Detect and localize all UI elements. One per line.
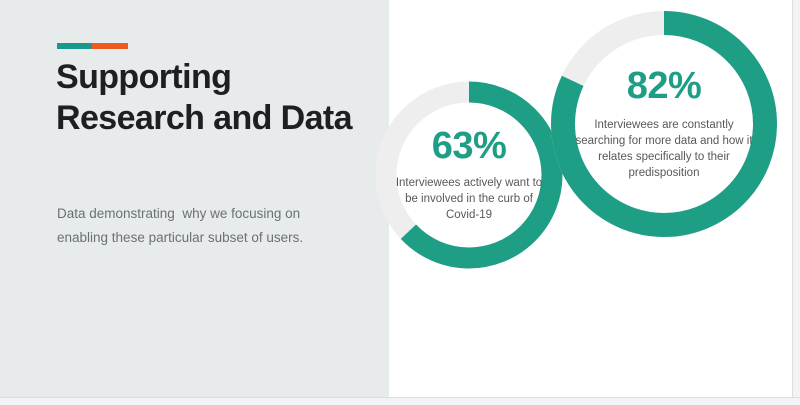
- slide-subtitle: Data demonstrating why we focusing on en…: [57, 202, 315, 250]
- accent-rule-teal-segment: [57, 43, 92, 49]
- donut-63-content: 63% Interviewees actively want to be inv…: [373, 79, 565, 271]
- donut-chart-63: 63% Interviewees actively want to be inv…: [373, 79, 565, 271]
- donut-chart-82: 82% Interviewees are constantly searchin…: [548, 8, 780, 240]
- donut-82-caption: Interviewees are constantly searching fo…: [574, 117, 754, 181]
- donut-63-percent: 63%: [432, 127, 507, 165]
- slide: Supporting Research and Data Data demons…: [0, 0, 800, 405]
- slide-right-margin: [793, 0, 800, 397]
- donut-82-percent: 82%: [627, 67, 702, 105]
- donut-82-content: 82% Interviewees are constantly searchin…: [548, 8, 780, 240]
- accent-rule-orange-segment: [92, 43, 128, 49]
- slide-title: Supporting Research and Data: [56, 57, 386, 139]
- donut-63-caption: Interviewees actively want to be involve…: [395, 175, 543, 223]
- accent-rule: [57, 43, 128, 49]
- slide-bottom-border: [0, 397, 800, 405]
- slide-right-border: [792, 0, 793, 397]
